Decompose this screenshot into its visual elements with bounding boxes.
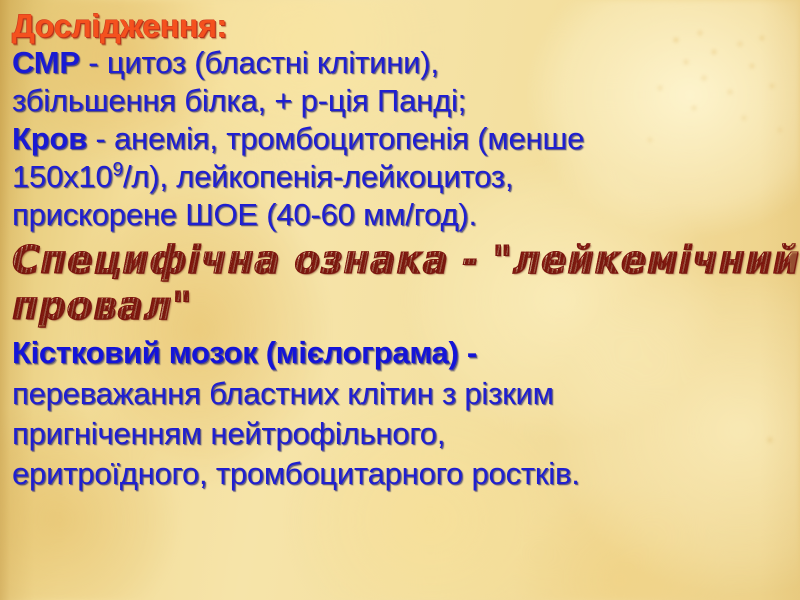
csf-line-2: збільшення білка, + р-ція Панді; (12, 85, 790, 116)
wordart-block: Специфічна ознака - "лейкемічний провал" (12, 241, 790, 325)
marrow-heading: Кістковий мозок (мієлограма) - (12, 337, 790, 368)
blood-line-2: 150х109/л), лейкопенія-лейкоцитоз, (12, 161, 790, 192)
blood-label: Кров (12, 121, 87, 156)
slide-content: Дослідження: СМР - цитоз (бластні клітин… (0, 0, 800, 489)
marrow-line-1: переважання бластних клітин з різким (12, 378, 790, 409)
wordart-line-1: Специфічна ознака - "лейкемічний (12, 241, 790, 279)
marrow-heading-bold: Кістковий мозок (мієлограма) (12, 335, 459, 370)
blood-line-3-text: прискорене ШОЕ (40-60 мм/год). (12, 197, 477, 232)
blood-line-1: Кров - анемія, тромбоцитопенія (менше (12, 123, 790, 154)
csf-line-2-text: збільшення білка, + р-ція Панді; (12, 83, 466, 118)
platelet-value-pre: 150х10 (12, 159, 113, 194)
marrow-line-2: пригніченням нейтрофільного, (12, 418, 790, 449)
platelet-value-post: /л), лейкопенія-лейкоцитоз, (123, 159, 513, 194)
blood-line-1-text: - анемія, тромбоцитопенія (менше (87, 121, 584, 156)
csf-line-1-text: - цитоз (бластні клітини), (80, 45, 439, 80)
slide: Дослідження: СМР - цитоз (бластні клітин… (0, 0, 800, 600)
slide-heading: Дослідження: (12, 10, 790, 42)
wordart-line-2: провал" (12, 287, 790, 325)
csf-line-1: СМР - цитоз (бластні клітини), (12, 47, 790, 78)
marrow-heading-tail: - (459, 335, 477, 370)
csf-label: СМР (12, 45, 80, 80)
platelet-exponent: 9 (113, 160, 123, 181)
blood-line-3: прискорене ШОЕ (40-60 мм/год). (12, 199, 790, 230)
marrow-line-3: еритроїдного, тромбоцитарного ростків. (12, 458, 790, 489)
